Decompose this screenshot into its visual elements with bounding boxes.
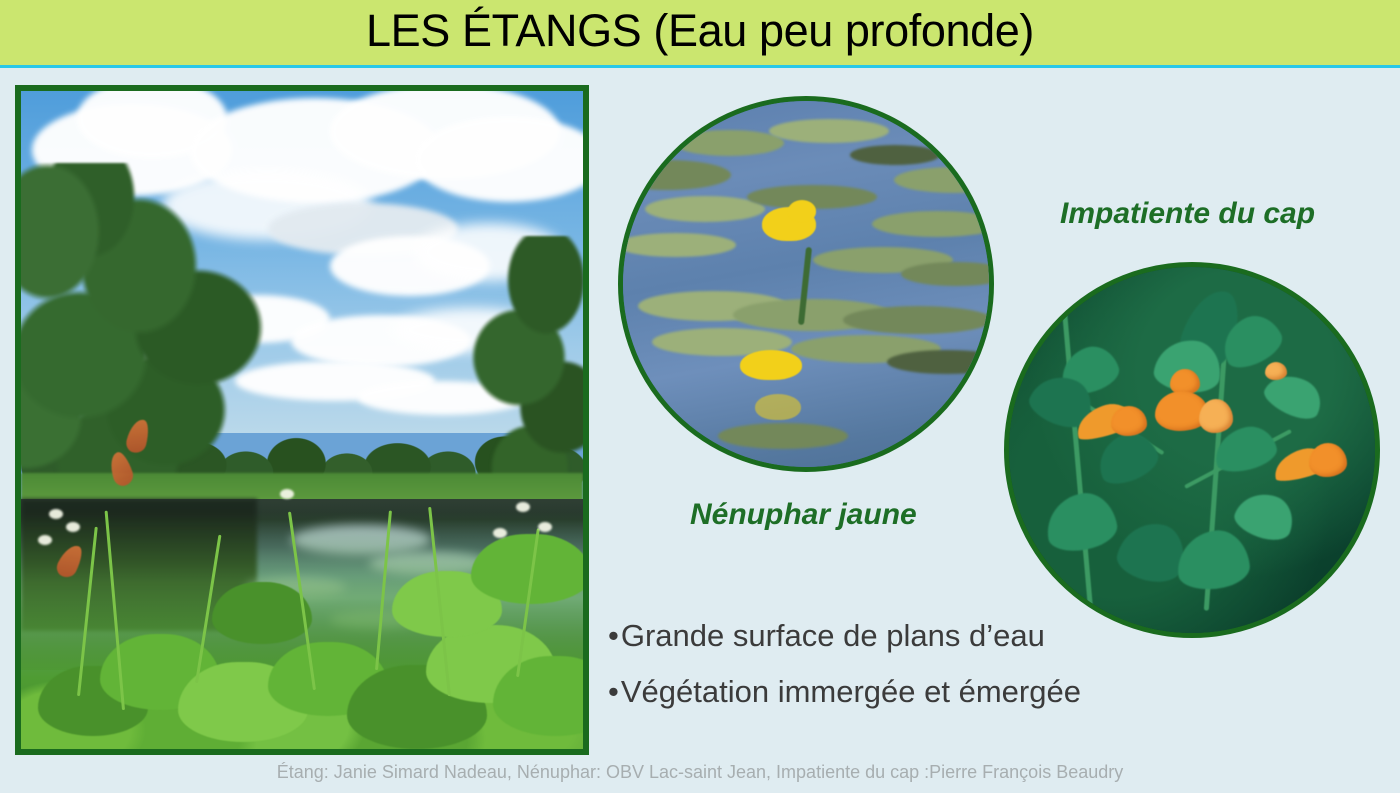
nenuphar-flower-reflection [755,394,801,420]
lily-pad [887,350,994,374]
bullet-list: •Grande surface de plans d’eau •Végétati… [608,608,1168,720]
lily-pad [718,423,848,449]
white-wildflower [38,535,52,545]
white-wildflower [516,502,530,512]
bullet-marker: • [608,674,619,709]
pond-photo-image [21,91,583,749]
page-title: LES ÉTANGS (Eau peu profonde) [0,0,1400,65]
white-wildflower [538,522,552,532]
bullet-item: •Grande surface de plans d’eau [608,608,1168,664]
impatiente-photo-circle[interactable] [1004,262,1380,638]
impatiente-caption: Impatiente du cap [1060,197,1315,231]
lily-pad [645,196,765,222]
bullet-text: Grande surface de plans d’eau [621,618,1045,653]
bullet-marker: • [608,618,619,653]
impatiente-flower-bud [1265,362,1287,380]
nenuphar-photo-circle[interactable] [618,96,994,472]
lily-pad [618,160,731,190]
white-wildflower [66,522,80,532]
nenuphar-flower [788,200,816,222]
white-wildflower [49,509,63,519]
title-banner: LES ÉTANGS (Eau peu profonde) [0,0,1400,68]
left-tree-mass [21,163,268,505]
lily-pad [843,306,993,334]
right-tree-mass [465,236,583,512]
slide-root: LES ÉTANGS (Eau peu profonde) [0,0,1400,793]
lily-pad [872,211,994,237]
lily-pad [618,233,736,257]
photo-credits: Étang: Janie Simard Nadeau, Nénuphar: OB… [0,762,1400,783]
nenuphar-caption: Nénuphar jaune [690,498,917,532]
white-wildflower [280,489,294,499]
bullet-item: •Végétation immergée et émergée [608,664,1168,720]
pond-photo-frame[interactable] [15,85,589,755]
nenuphar-flower-second [740,350,802,380]
fern-leaf [212,582,312,644]
lily-pad [850,145,940,165]
bullet-text: Végétation immergée et émergée [621,674,1081,709]
